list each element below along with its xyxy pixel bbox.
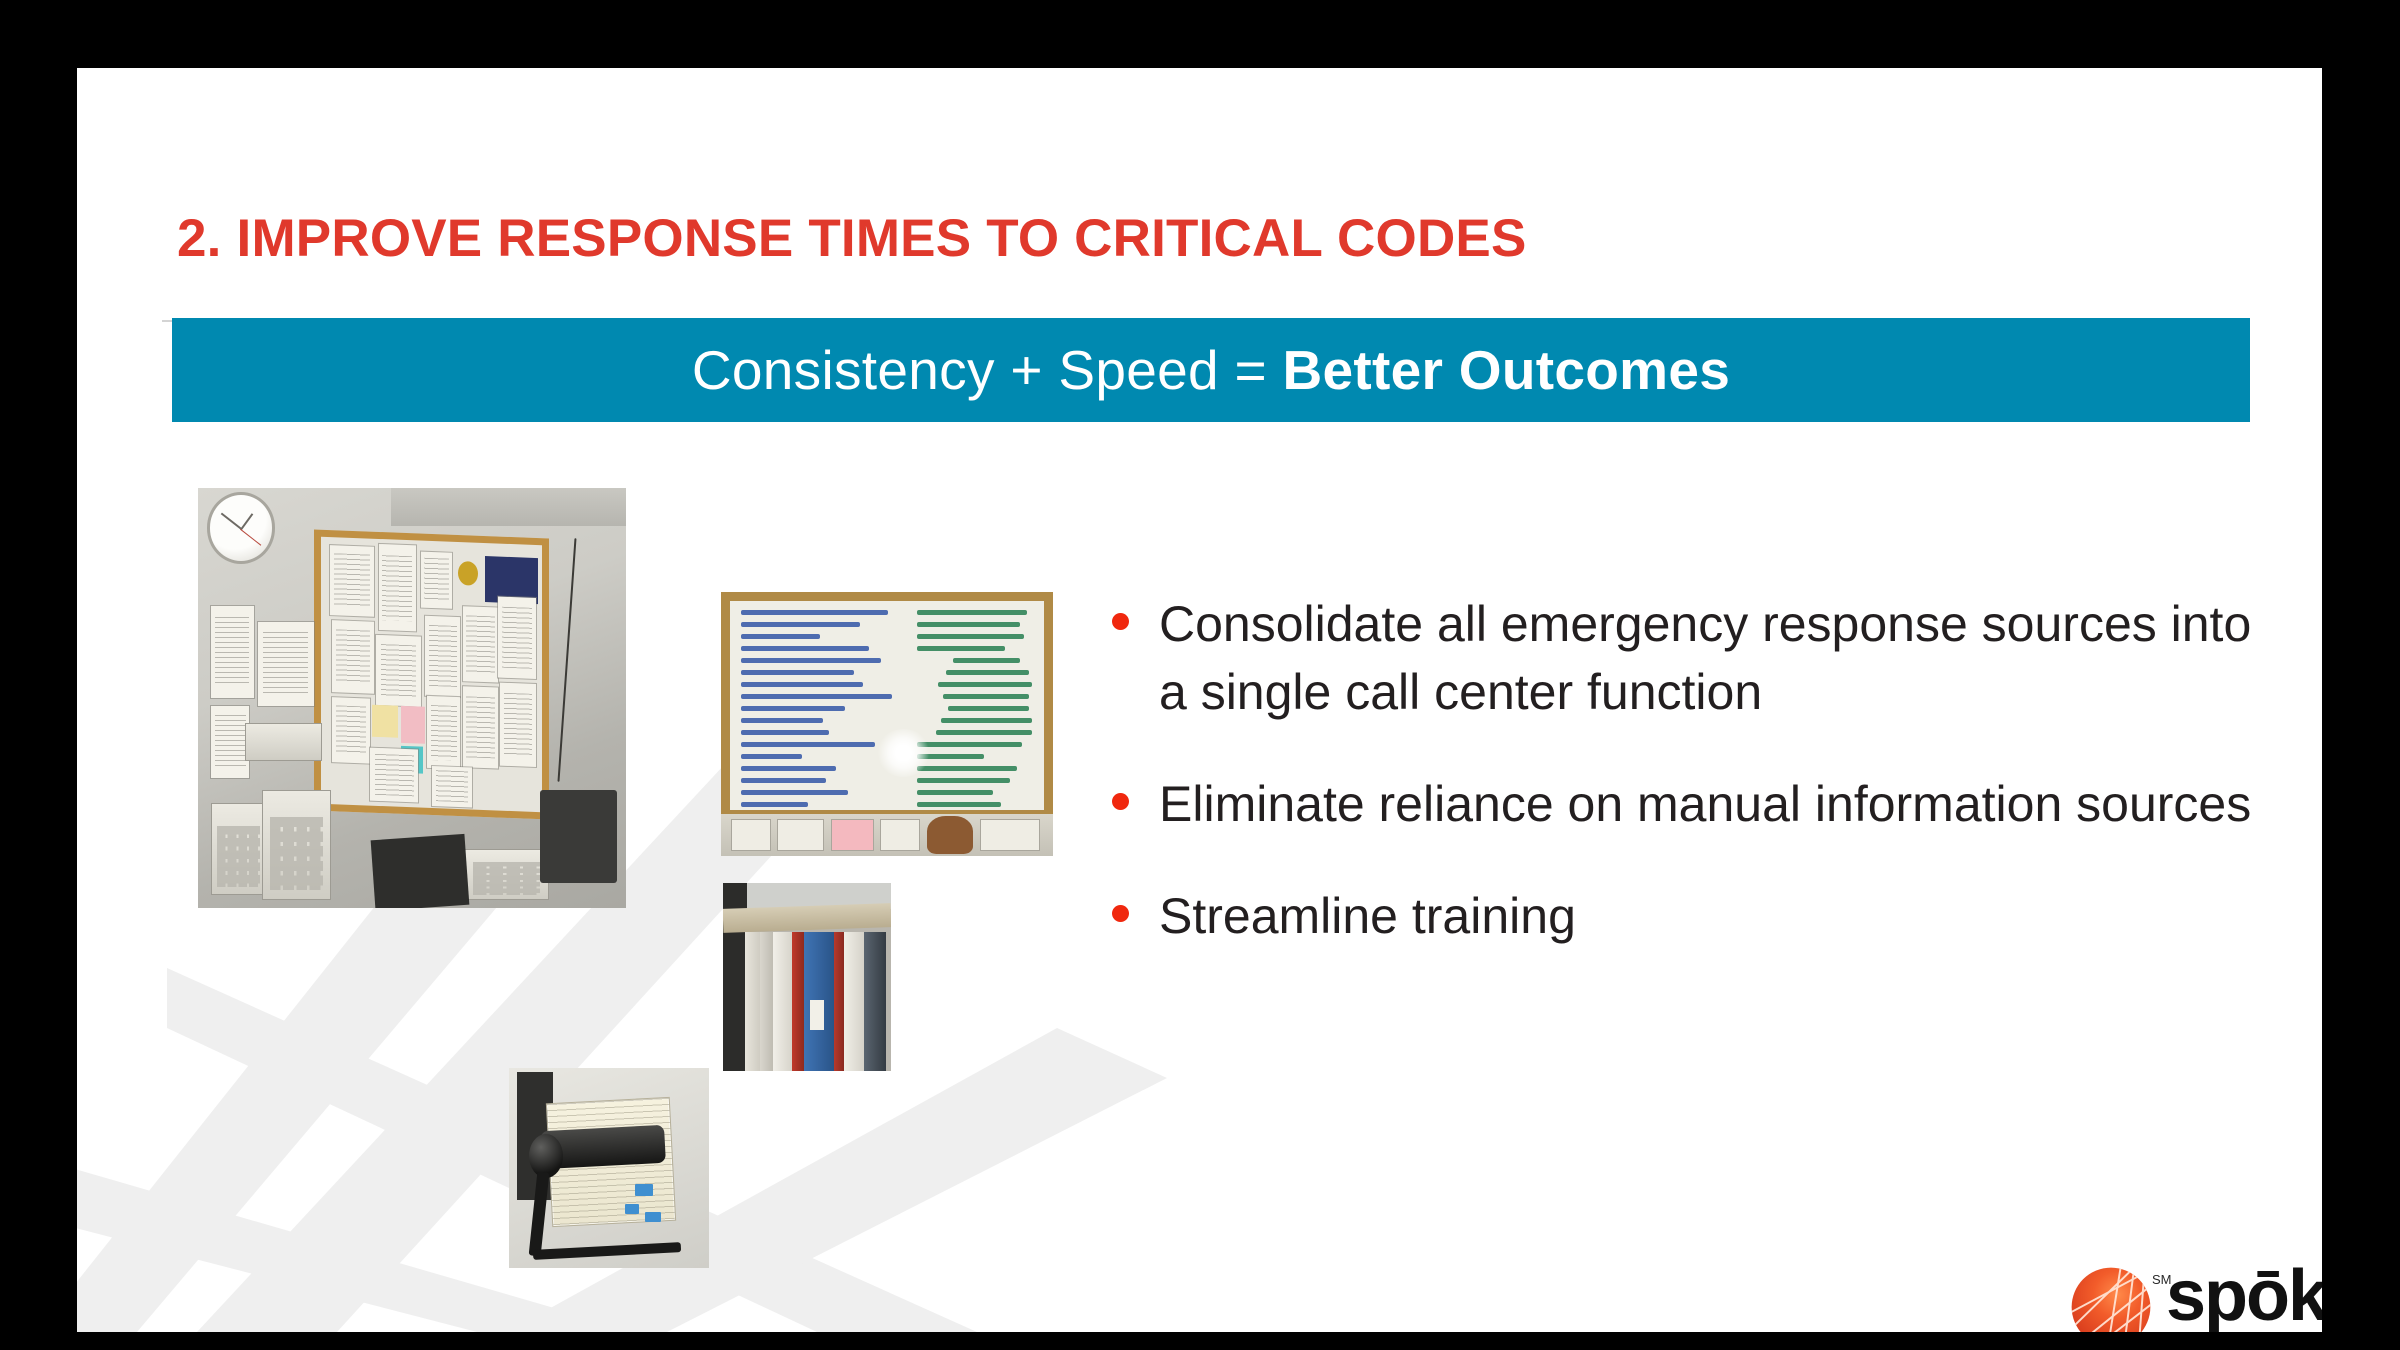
headline-banner: Consistency + Speed = Better Outcomes xyxy=(172,318,2250,422)
rolodex-card-file-photo xyxy=(509,1068,709,1268)
list-item: Eliminate reliance on manual information… xyxy=(1112,770,2272,838)
bullet-text: Consolidate all emergency response sourc… xyxy=(1159,590,2272,726)
list-item: Consolidate all emergency response sourc… xyxy=(1112,590,2272,726)
bullet-text: Eliminate reliance on manual information… xyxy=(1159,770,2251,838)
slide-stage: 2. IMPROVE RESPONSE TIMES TO CRITICAL CO… xyxy=(0,0,2400,1350)
bullet-dot-icon xyxy=(1112,613,1129,630)
bullet-text: Streamline training xyxy=(1159,882,1576,950)
headline-bold-part: Better Outcomes xyxy=(1282,339,1730,401)
spok-wordmark: spōk xyxy=(2166,1260,2322,1332)
bullet-dot-icon xyxy=(1112,793,1129,810)
whiteboard-contact-numbers-photo xyxy=(721,592,1053,856)
presentation-slide: 2. IMPROVE RESPONSE TIMES TO CRITICAL CO… xyxy=(77,68,2322,1332)
list-item: Streamline training xyxy=(1112,882,2272,950)
wall-clock-icon xyxy=(207,492,275,563)
spok-sphere-icon xyxy=(2070,1266,2152,1332)
bullet-list: Consolidate all emergency response sourc… xyxy=(1112,590,2272,994)
spok-logo: SM spōk xyxy=(2070,1258,2320,1332)
headline-normal-part: Consistency + Speed = xyxy=(692,339,1283,401)
office-wall-bulletin-board-photo xyxy=(198,488,626,908)
page-title: 2. IMPROVE RESPONSE TIMES TO CRITICAL CO… xyxy=(177,208,1527,269)
bullet-dot-icon xyxy=(1112,905,1129,922)
binder-shelf-photo xyxy=(723,883,891,1071)
headline-banner-text: Consistency + Speed = Better Outcomes xyxy=(692,338,1730,402)
